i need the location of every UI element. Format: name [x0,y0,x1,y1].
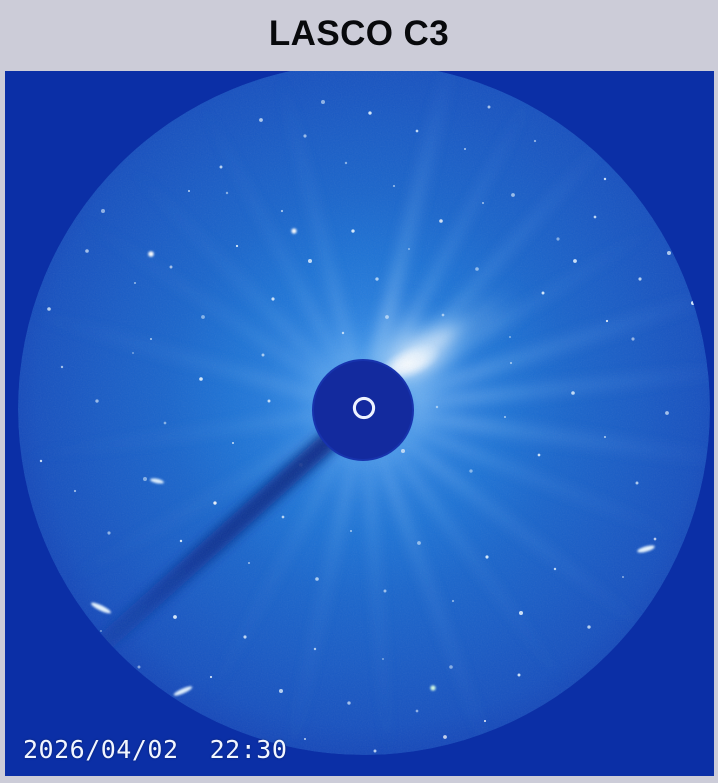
coronagraph-image-panel: 2026/04/02 22:30 [5,71,714,776]
coronagraph-image [5,71,714,776]
observation-timestamp: 2026/04/02 22:30 [23,737,287,762]
page-title: LASCO C3 [269,16,449,55]
lasco-c3-viewer: LASCO C3 [0,0,718,783]
title-bar: LASCO C3 [0,0,718,71]
